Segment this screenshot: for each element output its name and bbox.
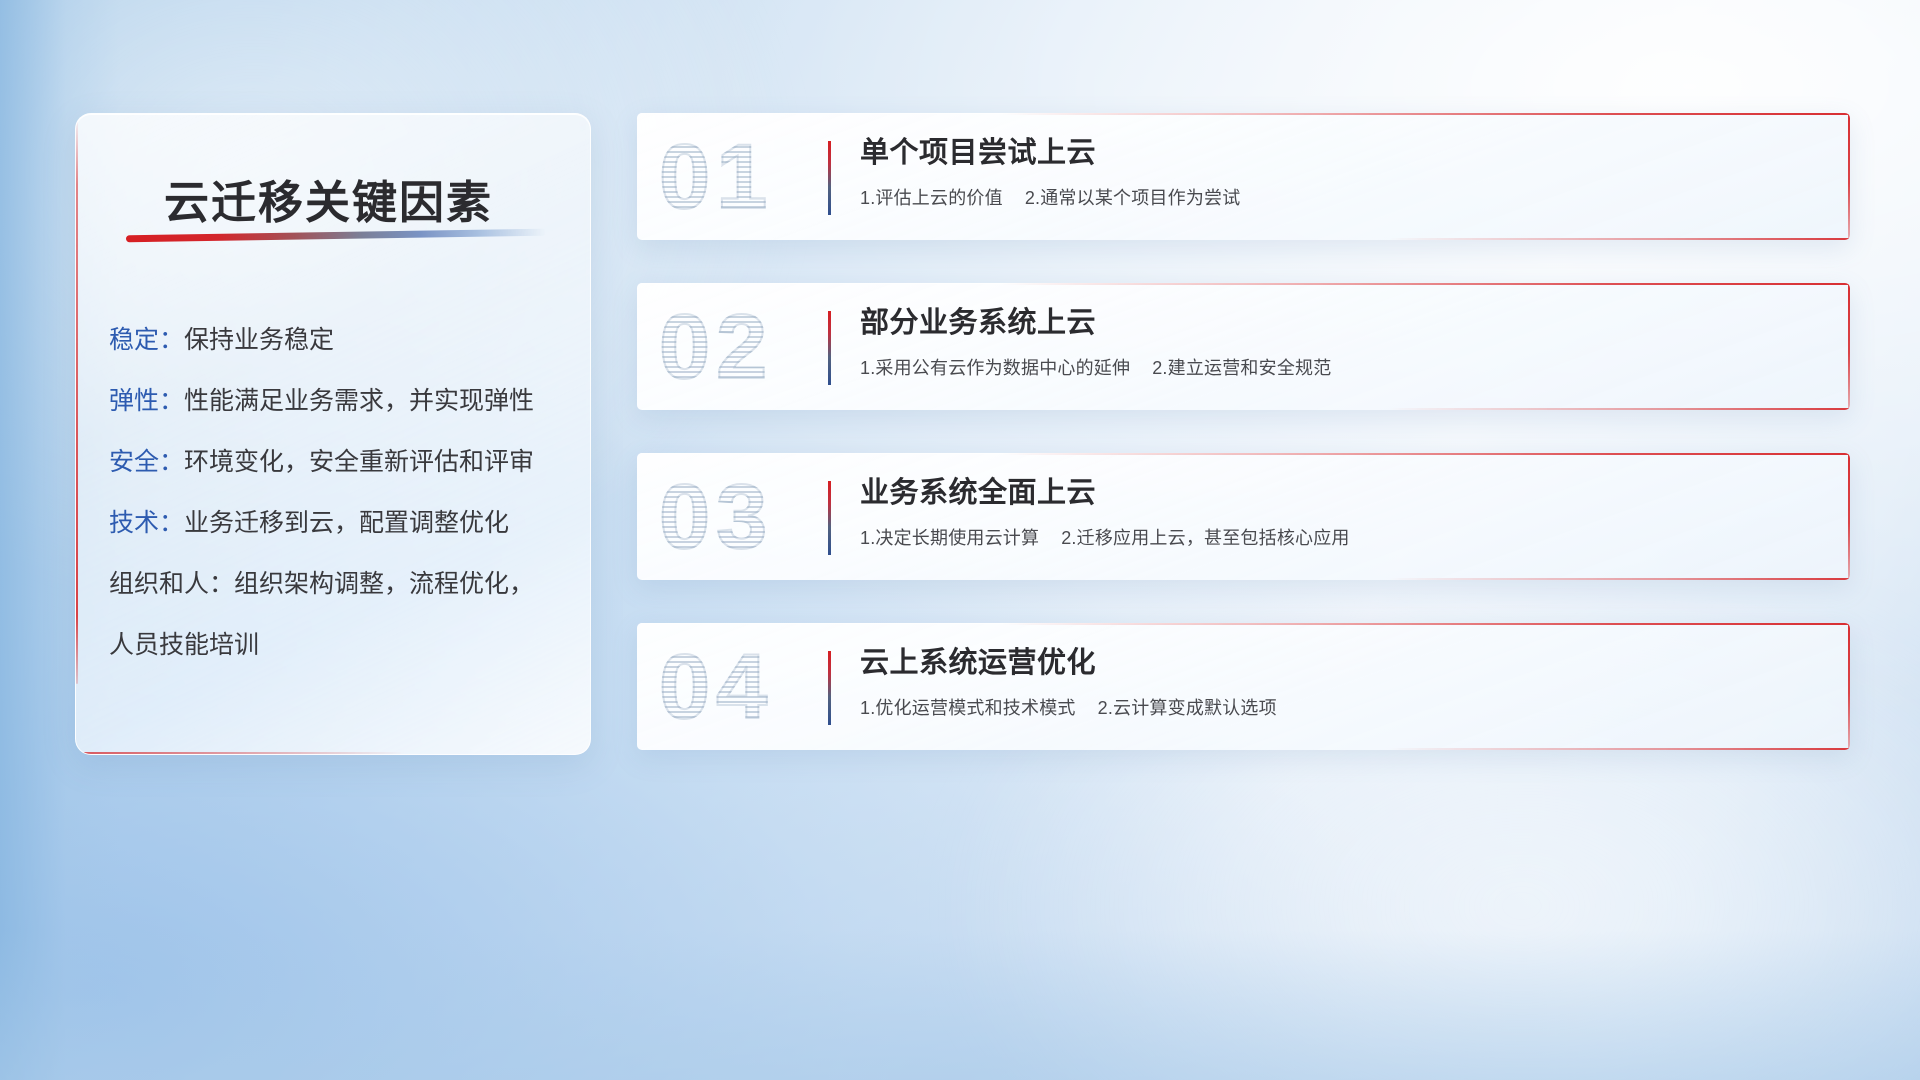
card-edge-right: [1848, 623, 1850, 750]
stage-number: 03: [659, 471, 773, 563]
card-title: 业务系统全面上云: [860, 475, 1822, 511]
list-item-label: 稳定：: [109, 326, 184, 354]
card-point-2: 2.迁移应用上云，甚至包括核心应用: [1061, 528, 1349, 548]
card-edge-right: [1848, 113, 1850, 240]
card-accent-bar: [828, 481, 831, 555]
list-item-body: 人员技能培训: [109, 631, 259, 659]
card-edge-top: [1001, 623, 1850, 625]
card-accent-bar: [828, 141, 831, 215]
card-title: 云上系统运营优化: [860, 645, 1822, 681]
card-accent-bar: [828, 311, 831, 385]
list-item-label: 组织和人：: [109, 570, 234, 598]
card-description: 1.决定长期使用云计算2.迁移应用上云，甚至包括核心应用: [860, 524, 1822, 550]
list-item-body: 业务迁移到云，配置调整优化: [184, 509, 509, 537]
list-item-continuation: 人员技能培训: [109, 615, 572, 676]
card-edge-bottom: [1389, 578, 1850, 580]
stage-number: 02: [659, 301, 773, 393]
card-description: 1.采用公有云作为数据中心的延伸2.建立运营和安全规范: [860, 354, 1822, 380]
card-point-2: 2.云计算变成默认选项: [1098, 698, 1277, 718]
card-description: 1.优化运营模式和技术模式2.云计算变成默认选项: [860, 694, 1822, 720]
card-point-2: 2.通常以某个项目作为尝试: [1025, 188, 1241, 208]
card-edge-top: [1001, 453, 1850, 455]
card-description: 1.评估上云的价值2.通常以某个项目作为尝试: [860, 184, 1822, 210]
card-accent-bar: [828, 651, 831, 725]
card-edge-bottom: [1389, 238, 1850, 240]
card-point-1: 1.决定长期使用云计算: [860, 528, 1039, 548]
card-content: 业务系统全面上云 1.决定长期使用云计算2.迁移应用上云，甚至包括核心应用: [860, 475, 1822, 550]
stage-card-01[interactable]: 01 单个项目尝试上云 1.评估上云的价值2.通常以某个项目作为尝试: [637, 113, 1850, 240]
list-item-body: 性能满足业务需求，并实现弹性: [184, 387, 534, 415]
key-factors-panel: 云迁移关键因素 稳定：保持业务稳定 弹性：性能满足业务需求，并实现弹性 安全：环…: [75, 113, 591, 755]
card-edge-top: [1001, 283, 1850, 285]
stage-card-02[interactable]: 02 部分业务系统上云 1.采用公有云作为数据中心的延伸2.建立运营和安全规范: [637, 283, 1850, 410]
list-item-label: 技术：: [109, 509, 184, 537]
page-title: 云迁移关键因素: [164, 166, 493, 231]
key-factors-list: 稳定：保持业务稳定 弹性：性能满足业务需求，并实现弹性 安全：环境变化，安全重新…: [109, 310, 572, 676]
list-item-body: 环境变化，安全重新评估和评审: [184, 448, 534, 476]
stage-number: 04: [659, 641, 773, 733]
list-item: 技术：业务迁移到云，配置调整优化: [109, 493, 572, 554]
card-edge-top: [1001, 113, 1850, 115]
card-point-2: 2.建立运营和安全规范: [1152, 358, 1331, 378]
card-edge-right: [1848, 283, 1850, 410]
card-content: 云上系统运营优化 1.优化运营模式和技术模式2.云计算变成默认选项: [860, 645, 1822, 720]
list-item-body: 组织架构调整，流程优化，: [234, 570, 534, 598]
list-item-label: 安全：: [109, 448, 184, 476]
card-point-1: 1.评估上云的价值: [860, 188, 1003, 208]
list-item: 稳定：保持业务稳定: [109, 310, 572, 371]
list-item: 弹性：性能满足业务需求，并实现弹性: [109, 371, 572, 432]
stage-card-04[interactable]: 04 云上系统运营优化 1.优化运营模式和技术模式2.云计算变成默认选项: [637, 623, 1850, 750]
card-edge-bottom: [1389, 408, 1850, 410]
list-item-label: 弹性：: [109, 387, 184, 415]
list-item: 组织和人：组织架构调整，流程优化，: [109, 554, 572, 615]
card-title: 部分业务系统上云: [860, 305, 1822, 341]
card-content: 部分业务系统上云 1.采用公有云作为数据中心的延伸2.建立运营和安全规范: [860, 305, 1822, 380]
list-item-body: 保持业务稳定: [184, 326, 334, 354]
card-point-1: 1.优化运营模式和技术模式: [860, 698, 1076, 718]
card-edge-bottom: [1389, 748, 1850, 750]
card-content: 单个项目尝试上云 1.评估上云的价值2.通常以某个项目作为尝试: [860, 135, 1822, 210]
list-item: 安全：环境变化，安全重新评估和评审: [109, 432, 572, 493]
slide-stage: 云迁移关键因素 稳定：保持业务稳定 弹性：性能满足业务需求，并实现弹性 安全：环…: [0, 0, 1920, 1080]
card-edge-right: [1848, 453, 1850, 580]
stage-number: 01: [659, 131, 773, 223]
card-point-1: 1.采用公有云作为数据中心的延伸: [860, 358, 1130, 378]
migration-stage-cards: 01 单个项目尝试上云 1.评估上云的价值2.通常以某个项目作为尝试 02 部分…: [637, 113, 1850, 793]
card-title: 单个项目尝试上云: [860, 135, 1822, 171]
stage-card-03[interactable]: 03 业务系统全面上云 1.决定长期使用云计算2.迁移应用上云，甚至包括核心应用: [637, 453, 1850, 580]
